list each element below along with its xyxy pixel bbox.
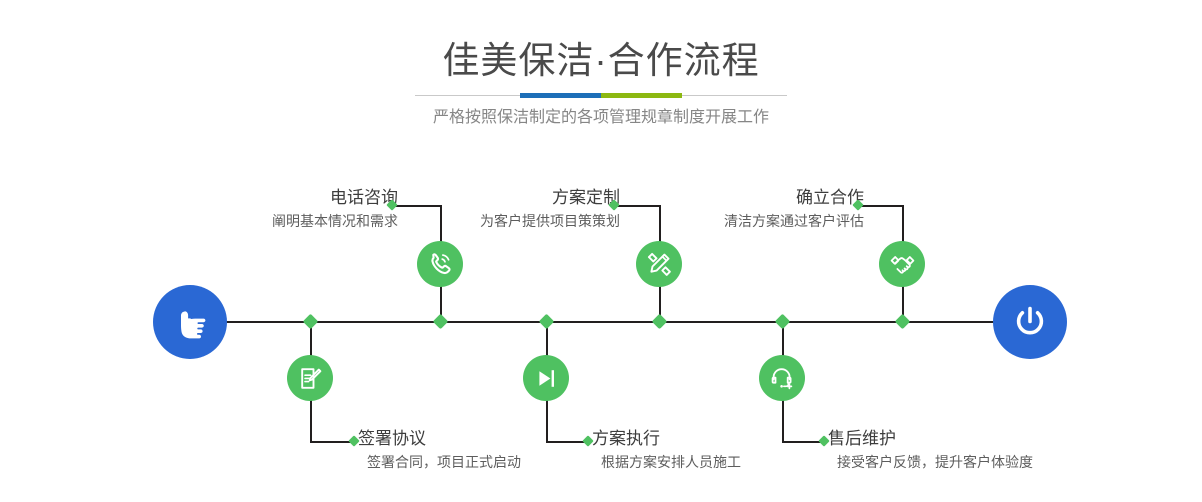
step-icon-1 [417,241,463,287]
title-divider [415,93,787,98]
step-title-1: 电话咨询 [150,186,398,210]
axis-marker-step-5 [895,314,911,330]
connector-horizontal-step-5 [858,205,904,207]
headset-support-icon [769,365,795,391]
step-icon-3 [636,241,682,287]
axis-marker-step-1 [433,314,449,330]
step-icon-6 [759,355,805,401]
axis-marker-step-6 [775,314,791,330]
document-edit-icon [298,366,323,391]
handshake-icon [889,251,916,278]
page-title: 佳美保洁·合作流程 [0,38,1202,84]
step-icon-4 [523,355,569,401]
step-title-2: 签署协议 [358,427,618,451]
timeline-end-node [993,285,1067,359]
step-title-4: 方案执行 [592,427,852,451]
connector-horizontal-step-3 [614,205,661,207]
power-icon [1009,301,1051,343]
axis-marker-step-3 [652,314,668,330]
connector-horizontal-step-2 [310,441,354,443]
pointing-hand-icon [170,302,210,342]
step-desc-4: 根据方案安排人员施工 [592,451,852,473]
page-subtitle: 严格按照保洁制定的各项管理规章制度开展工作 [0,106,1202,130]
step-label-3: 方案定制 为客户提供项目策策划 [370,186,620,232]
connector-horizontal-step-1 [392,205,442,207]
step-label-4: 方案执行 根据方案安排人员施工 [592,427,852,473]
axis-marker-step-2 [303,314,319,330]
divider-segment-green [601,93,682,98]
step-icon-2 [287,355,333,401]
step-desc-3: 为客户提供项目策策划 [370,210,620,232]
step-title-6: 售后维护 [828,427,1108,451]
step-desc-6: 接受客户反馈，提升客户体验度 [828,451,1108,473]
timeline-start-node [153,285,227,359]
pencil-ruler-icon [646,251,672,277]
process-flow-infographic: 佳美保洁·合作流程 严格按照保洁制定的各项管理规章制度开展工作 [0,0,1202,502]
divider-segment-blue [520,93,601,98]
play-execute-icon [534,366,559,391]
step-desc-5: 清洁方案通过客户评估 [614,210,864,232]
step-label-6: 售后维护 接受客户反馈，提升客户体验度 [828,427,1108,473]
step-label-5: 确立合作 清洁方案通过客户评估 [614,186,864,232]
step-icon-5 [879,241,925,287]
step-desc-1: 阐明基本情况和需求 [150,210,398,232]
axis-marker-step-4 [539,314,555,330]
step-desc-2: 签署合同，项目正式启动 [358,451,618,473]
phone-call-icon [427,251,453,277]
step-label-1: 电话咨询 阐明基本情况和需求 [150,186,398,232]
step-label-2: 签署协议 签署合同，项目正式启动 [358,427,618,473]
